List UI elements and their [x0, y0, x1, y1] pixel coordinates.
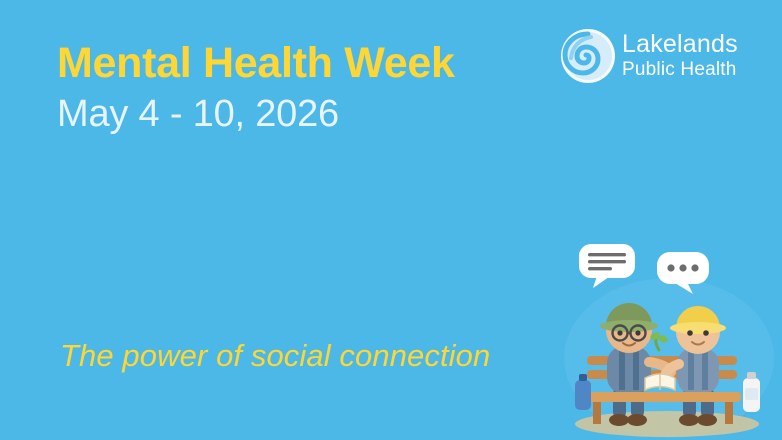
open-book — [645, 374, 675, 390]
event-dates: May 4 - 10, 2026 — [57, 93, 577, 137]
lakelands-public-health-logo: Lakelands Public Health — [560, 26, 760, 88]
logo-wordmark: Lakelands Public Health — [622, 30, 738, 80]
tagline: The power of social connection — [60, 338, 490, 374]
speech-bubble-left — [579, 244, 635, 288]
logo-line-1: Lakelands — [622, 30, 738, 58]
page-title: Mental Health Week — [57, 40, 577, 87]
logo-line-2: Public Health — [622, 59, 738, 80]
mental-health-week-banner: Lakelands Public Health Mental Health We… — [0, 0, 782, 440]
two-characters-on-bench-illustration — [559, 238, 774, 438]
headline-block: Mental Health Week May 4 - 10, 2026 — [57, 40, 577, 137]
